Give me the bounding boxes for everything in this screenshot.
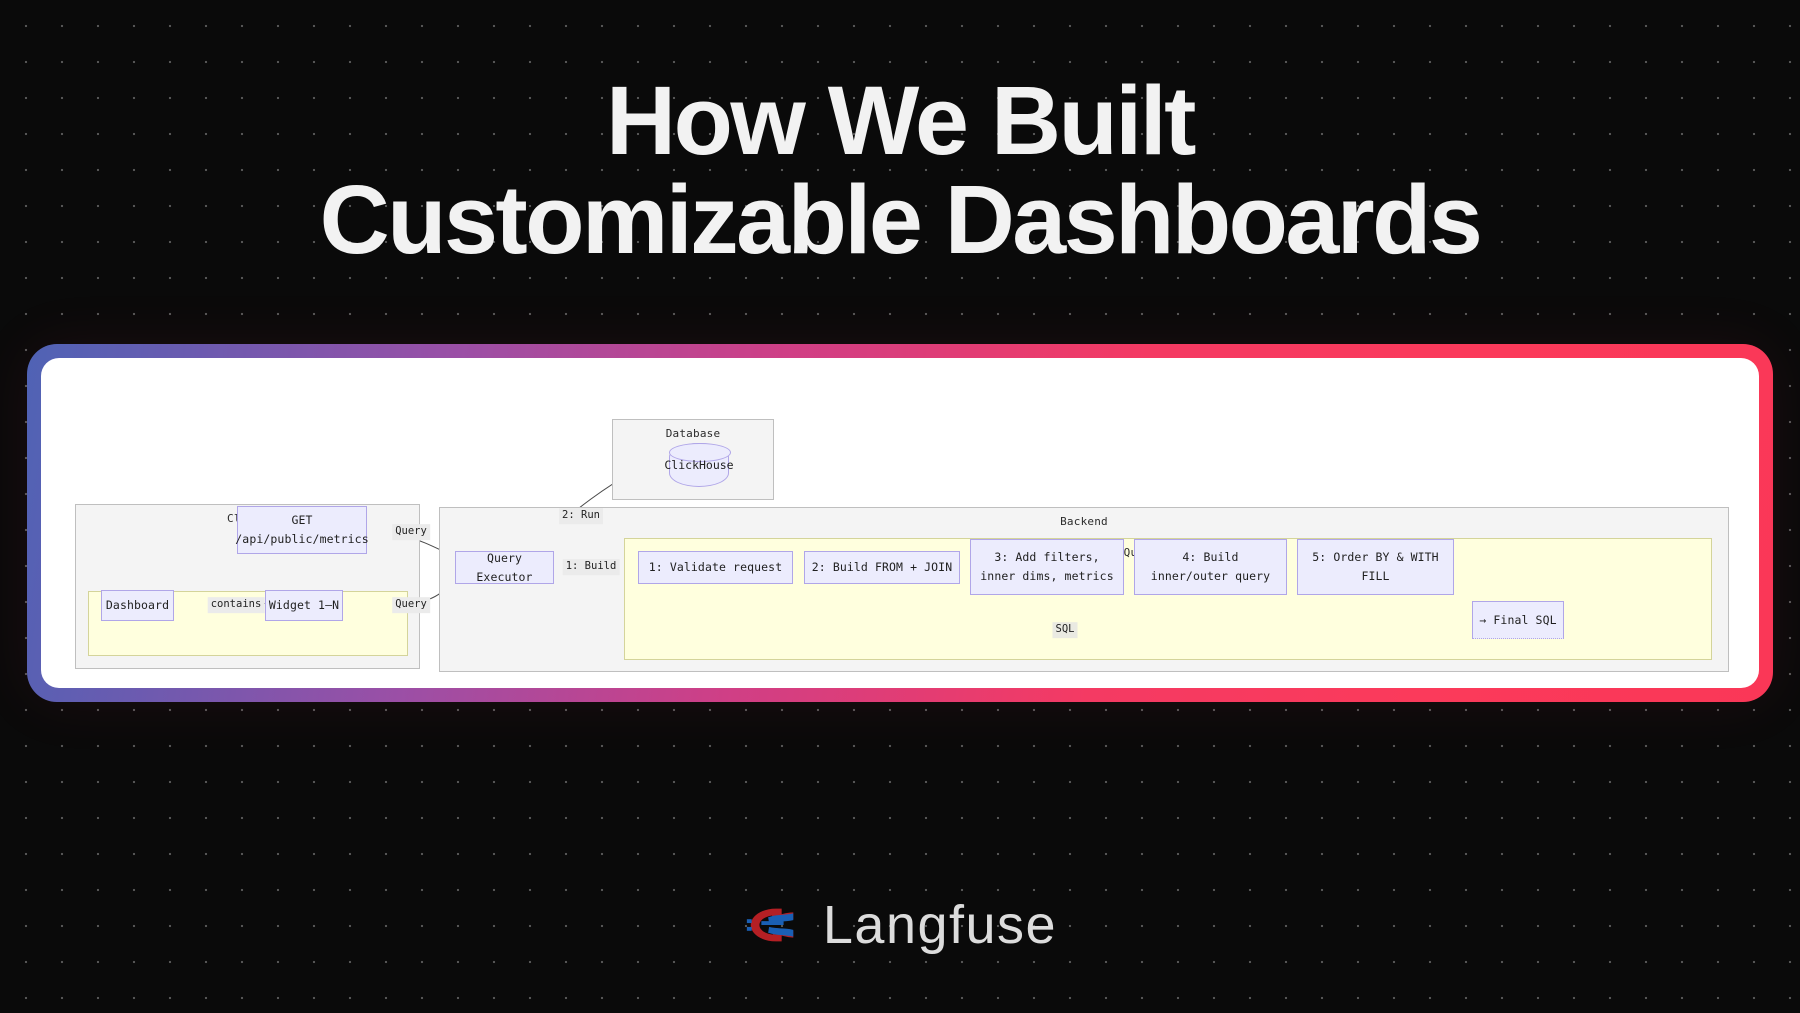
node-step-1[interactable]: 1: Validate request xyxy=(638,551,793,584)
node-get-endpoint-line-1: GET xyxy=(291,511,312,530)
edge-label-build: 1: Build xyxy=(563,559,620,575)
edge-label-run: 2: Run xyxy=(559,508,603,524)
node-query-executor[interactable]: Query Executor xyxy=(455,551,554,584)
node-get-endpoint-line-2: /api/public/metrics xyxy=(235,530,368,549)
node-step-4-line-1: 4: Build xyxy=(1182,548,1238,567)
node-final-sql-label: → Final SQL xyxy=(1479,611,1556,630)
edge-label-query-top: Query xyxy=(392,524,430,540)
node-step-4-line-2: inner/outer query xyxy=(1151,567,1270,586)
node-clickhouse-label: ClickHouse xyxy=(664,458,733,472)
node-step-1-label: 1: Validate request xyxy=(649,558,782,577)
node-step-5-line-2: FILL xyxy=(1361,567,1389,586)
edge-label-query-bottom: Query xyxy=(392,597,430,613)
node-dashboard[interactable]: Dashboard xyxy=(101,590,174,621)
edge-label-sql: SQL xyxy=(1053,622,1078,638)
node-step-5-line-1: 5: Order BY & WITH xyxy=(1312,548,1438,567)
diagram-card-surface: Client Frontend GET /api/public/metrics … xyxy=(41,358,1759,688)
diagram-card-gradient-frame: Client Frontend GET /api/public/metrics … xyxy=(27,344,1773,702)
node-widget[interactable]: Widget 1–N xyxy=(265,590,343,621)
node-step-2[interactable]: 2: Build FROM + JOIN xyxy=(804,551,960,584)
page-title-line-2: Customizable Dashboards xyxy=(0,171,1800,270)
node-step-4[interactable]: 4: Build inner/outer query xyxy=(1134,539,1287,595)
group-backend-label: Backend xyxy=(440,515,1728,528)
node-step-5[interactable]: 5: Order BY & WITH FILL xyxy=(1297,539,1454,595)
node-step-3-line-2: inner dims, metrics xyxy=(980,567,1113,586)
page-title: How We Built Customizable Dashboards xyxy=(0,72,1800,270)
langfuse-logo-icon xyxy=(743,900,801,950)
node-dashboard-label: Dashboard xyxy=(106,596,169,615)
node-step-2-label: 2: Build FROM + JOIN xyxy=(812,558,952,577)
node-step-3-line-1: 3: Add filters, xyxy=(994,548,1099,567)
node-final-sql[interactable]: → Final SQL xyxy=(1472,601,1564,639)
node-step-3[interactable]: 3: Add filters, inner dims, metrics xyxy=(970,539,1124,595)
page-title-line-1: How We Built xyxy=(0,72,1800,171)
node-query-executor-label: Query Executor xyxy=(456,549,553,587)
edge-label-contains: contains xyxy=(208,597,265,613)
group-database-label: Database xyxy=(613,427,773,440)
brand-footer: Langfuse xyxy=(0,898,1800,952)
node-widget-label: Widget 1–N xyxy=(269,596,339,615)
architecture-diagram: Client Frontend GET /api/public/metrics … xyxy=(41,358,1759,688)
poster-canvas: How We Built Customizable Dashboards xyxy=(0,0,1800,1013)
node-clickhouse[interactable]: ClickHouse xyxy=(669,443,729,487)
brand-name: Langfuse xyxy=(823,898,1057,952)
node-get-endpoint[interactable]: GET /api/public/metrics xyxy=(237,506,367,554)
